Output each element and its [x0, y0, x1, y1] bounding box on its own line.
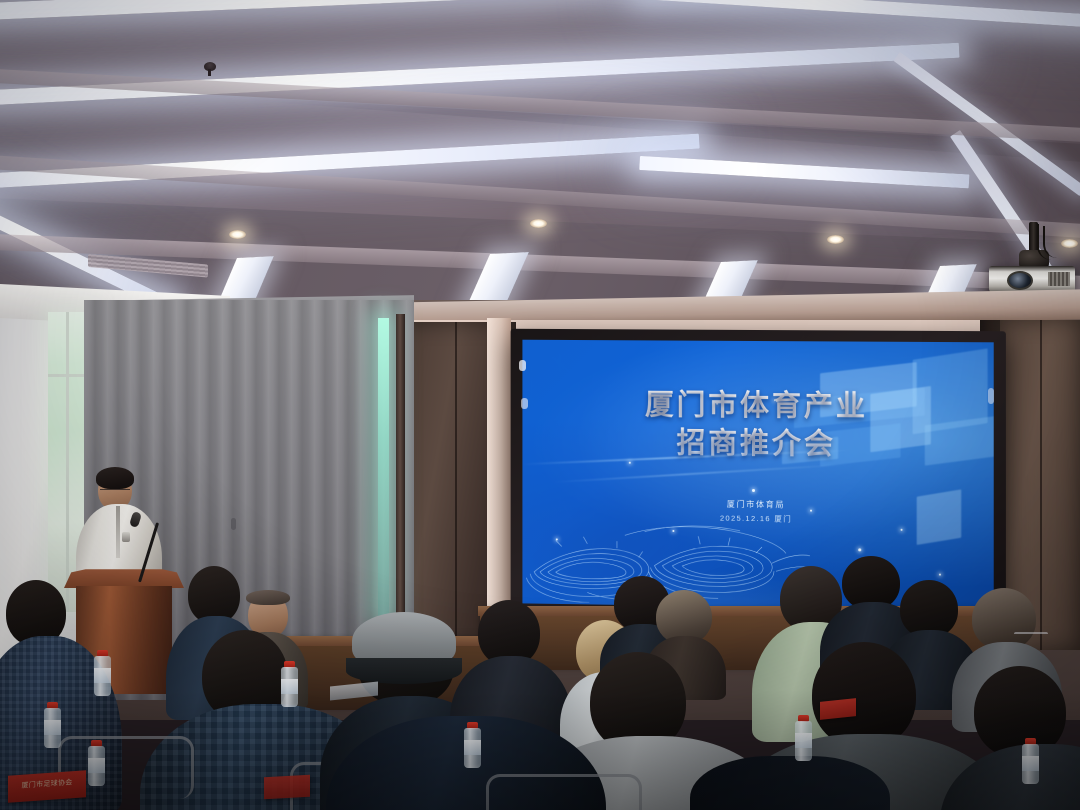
slide-title: 厦门市体育产业 招商推介会: [522, 385, 993, 466]
bottle-label: [795, 733, 812, 748]
baseball-cap-brim: [346, 658, 462, 684]
bottle-label: [88, 758, 105, 773]
speaker-hair: [96, 467, 134, 489]
smoke-detector-icon: [204, 62, 216, 71]
bottle-label: [1022, 756, 1039, 771]
slide-title-line2: 招商推介会: [522, 423, 993, 466]
bottle-label: [281, 679, 298, 694]
slide-title-line1: 厦门市体育产业: [645, 389, 868, 423]
glasses-icon: [1014, 632, 1048, 640]
conference-chair: [486, 774, 642, 810]
bottle-label: [94, 668, 111, 683]
name-placard: 厦门市足球协会: [8, 770, 86, 802]
bottle-label: [44, 720, 61, 735]
audience-head: [812, 642, 916, 748]
ceiling: [0, 0, 1080, 330]
bottle-label: [464, 740, 481, 755]
downlight: [530, 219, 547, 228]
screen-bezel-highlight: [988, 388, 994, 404]
jacket-zipper: [116, 506, 120, 558]
downlight: [229, 230, 246, 239]
name-badge: [122, 532, 130, 542]
screen-bezel-highlight: [521, 398, 528, 409]
audience-head: [972, 588, 1036, 650]
slide-decor-star: [939, 574, 941, 576]
projector-lens-icon: [1007, 271, 1033, 290]
glasses-icon: [100, 489, 130, 495]
screen-bezel-highlight: [519, 360, 526, 371]
slide-decor-star: [901, 529, 903, 531]
audience-torso: [940, 744, 1080, 810]
projector-vent: [1048, 272, 1070, 286]
name-placard: [820, 698, 856, 720]
slide-decor-star: [858, 548, 861, 551]
name-placard-text: 厦门市足球协会: [8, 776, 86, 791]
conference-hall-photo: 厦门市体育产业 招商推介会 厦门市体育局 2025.12.16 厦门: [0, 0, 1080, 810]
window-mullion: [66, 312, 69, 612]
wall-pipe: [396, 314, 405, 614]
window-light-gap: [378, 318, 389, 618]
name-placard: [264, 775, 310, 799]
slide-decor-star: [752, 489, 755, 492]
audience-member: [950, 666, 1080, 810]
downlight: [827, 235, 844, 244]
projector-cable: [1043, 226, 1065, 258]
curtain-hook: [231, 518, 236, 530]
